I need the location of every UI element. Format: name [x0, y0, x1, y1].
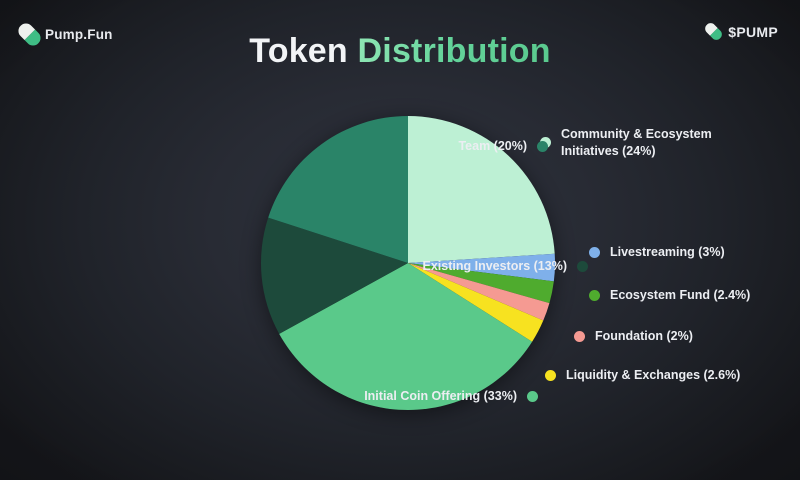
legend-item[interactable]: Existing Investors (13%)	[423, 258, 589, 275]
legend-item[interactable]: Liquidity & Exchanges (2.6%)	[545, 367, 740, 384]
legend-item[interactable]: Community & Ecosystem Initiatives (24%)	[540, 126, 730, 160]
brand-label: Pump.Fun	[45, 27, 113, 42]
legend-color-dot-icon	[527, 391, 538, 402]
legend-item-label: Liquidity & Exchanges (2.6%)	[566, 367, 740, 384]
legend-item[interactable]: Team (20%)	[458, 138, 548, 155]
legend-item-label: Initial Coin Offering (33%)	[364, 388, 517, 405]
legend-item[interactable]: Ecosystem Fund (2.4%)	[589, 287, 750, 304]
token-ticker[interactable]: $PUMP	[708, 22, 778, 41]
chart-canvas: Pump.Fun $PUMP Token Distribution Commun…	[0, 0, 800, 480]
page-title-word-2: Distribution	[358, 32, 551, 70]
legend-color-dot-icon	[577, 261, 588, 272]
legend-color-dot-icon	[545, 370, 556, 381]
legend-color-dot-icon	[537, 141, 548, 152]
legend-item-label: Livestreaming (3%)	[610, 244, 725, 261]
legend-color-dot-icon	[589, 247, 600, 258]
legend-color-dot-icon	[574, 331, 585, 342]
page-title: Token Distribution	[0, 32, 800, 71]
legend-item-label: Foundation (2%)	[595, 328, 693, 345]
legend-item-label: Team (20%)	[458, 138, 527, 155]
legend-color-dot-icon	[589, 290, 600, 301]
token-ticker-label: $PUMP	[728, 24, 778, 40]
legend-item[interactable]: Livestreaming (3%)	[589, 244, 725, 261]
legend-item[interactable]: Initial Coin Offering (33%)	[364, 388, 538, 405]
brand-logo[interactable]: Pump.Fun	[22, 22, 113, 47]
page-title-word-1: Token	[249, 32, 348, 70]
legend-item-label: Ecosystem Fund (2.4%)	[610, 287, 750, 304]
legend-item[interactable]: Foundation (2%)	[574, 328, 693, 345]
legend-item-label: Community & Ecosystem Initiatives (24%)	[561, 126, 730, 160]
legend-item-label: Existing Investors (13%)	[423, 258, 568, 275]
